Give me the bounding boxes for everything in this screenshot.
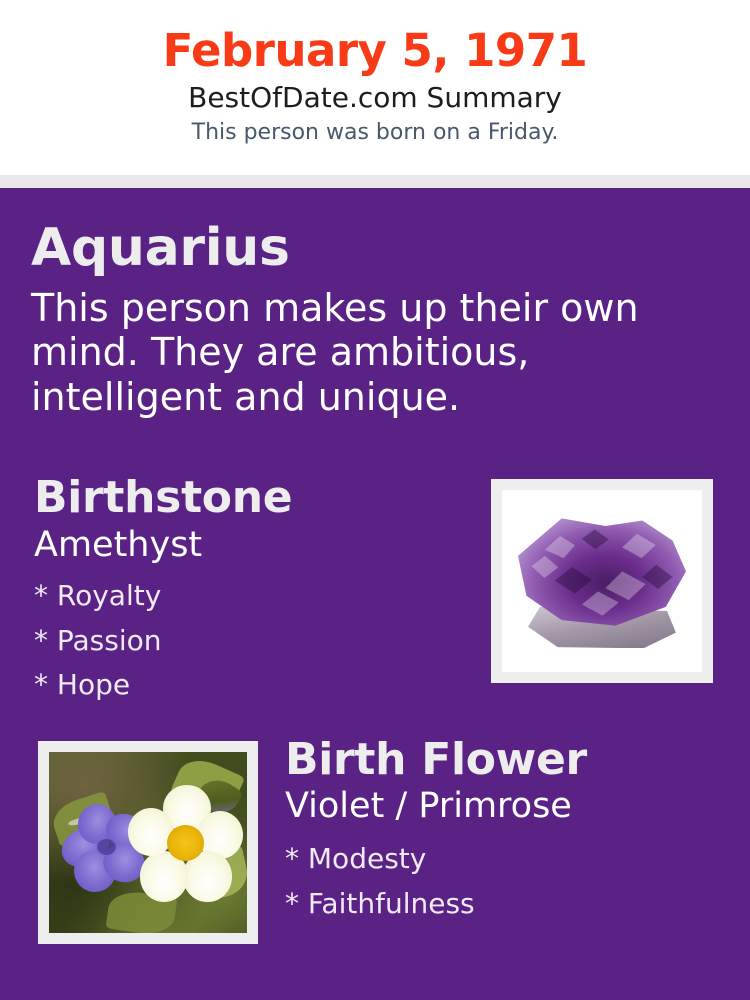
birthstone-section: Birthstone Amethyst * Royalty * Passion … <box>34 476 474 708</box>
list-item: * Passion <box>34 619 474 664</box>
birthflower-heading: Birth Flower <box>285 738 715 782</box>
birthflower-photo-frame <box>38 741 258 944</box>
list-item: * Hope <box>34 663 474 708</box>
violet-center <box>97 839 116 855</box>
birthstone-heading: Birthstone <box>34 476 474 520</box>
date-summary-card: February 5, 1971 BestOfDate.com Summary … <box>0 0 750 1000</box>
crystal-facet <box>545 536 575 558</box>
crystal-facet <box>605 571 645 600</box>
zodiac-sign-title: Aquarius <box>31 222 691 274</box>
birthflower-trait-list: * Modesty * Faithfulness <box>285 825 715 927</box>
page-title: February 5, 1971 <box>0 0 750 74</box>
primrose-center <box>167 825 204 861</box>
zodiac-section: Aquarius This person makes up their own … <box>31 222 691 419</box>
birthflower-section: Birth Flower Violet / Primrose * Modesty… <box>285 738 715 926</box>
crystal-facet <box>582 529 609 549</box>
header: February 5, 1971 BestOfDate.com Summary … <box>0 0 750 175</box>
site-subtitle: BestOfDate.com Summary <box>0 74 750 114</box>
list-item: * Faithfulness <box>285 882 715 927</box>
primrose-flower-icon <box>128 785 243 904</box>
crystal-facet <box>622 534 656 558</box>
birthflower-name: Violet / Primrose <box>285 782 715 825</box>
list-item: * Modesty <box>285 837 715 882</box>
crystal-facet <box>582 591 619 615</box>
birth-weekday-note: This person was born on a Friday. <box>0 114 750 145</box>
list-item: * Royalty <box>34 574 474 619</box>
birthflower-photo <box>49 752 247 933</box>
crystal-facet <box>642 565 672 589</box>
birthstone-photo <box>502 490 702 672</box>
birthstone-trait-list: * Royalty * Passion * Hope <box>34 564 474 708</box>
zodiac-description: This person makes up their own mind. The… <box>31 274 691 419</box>
crystal-facet <box>531 556 558 578</box>
birthstone-name: Amethyst <box>34 520 474 564</box>
header-divider <box>0 175 750 188</box>
amethyst-crystal-icon <box>518 510 686 648</box>
birthstone-photo-frame <box>491 479 713 683</box>
crystal-facet <box>555 567 592 594</box>
